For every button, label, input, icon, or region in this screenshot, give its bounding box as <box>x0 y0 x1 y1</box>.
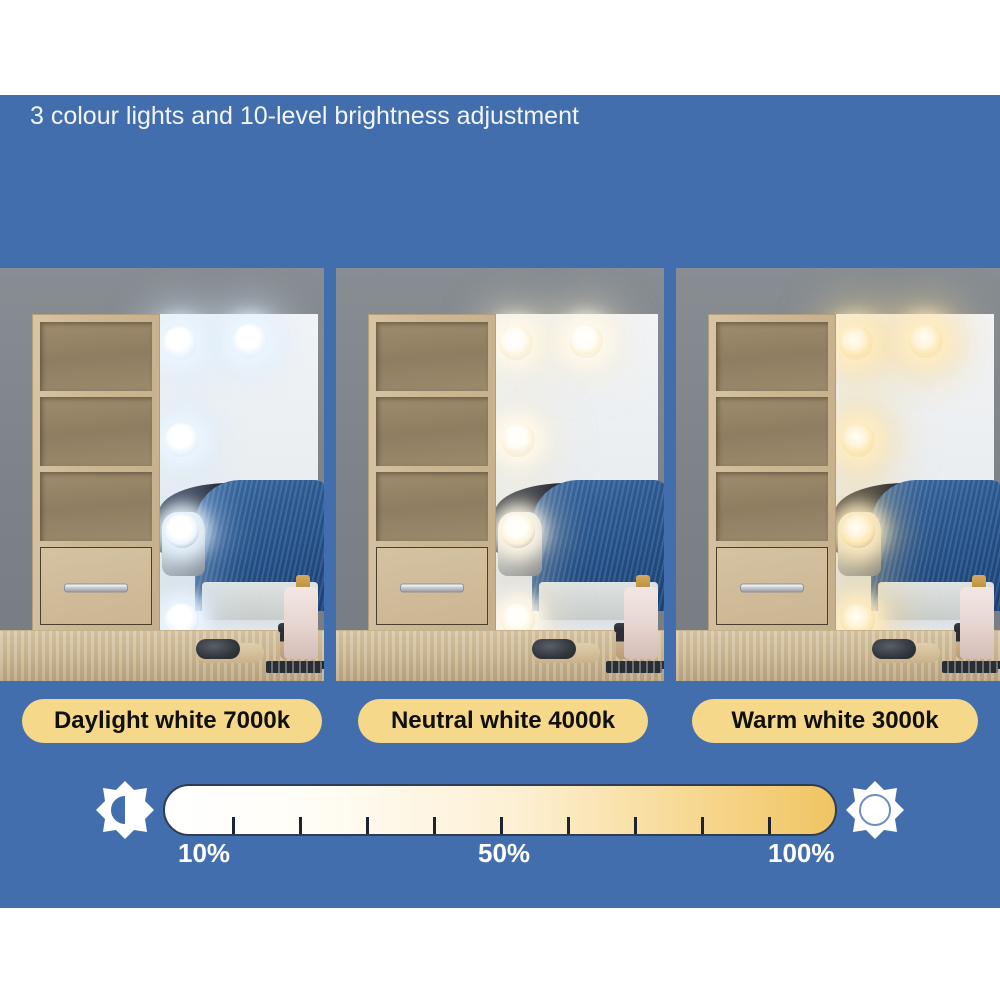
panel-neutral <box>336 268 664 681</box>
mirror-bulb <box>839 326 873 360</box>
cabinet-shelf <box>376 397 488 466</box>
tick <box>433 817 436 834</box>
mirror-bulb <box>163 326 197 360</box>
brightness-high-icon <box>845 780 905 840</box>
drawer-handle <box>400 583 464 592</box>
pill-warm-white: Warm white 3000k <box>692 699 978 743</box>
cabinet-drawer <box>716 547 828 625</box>
vanity-mirror <box>152 314 318 633</box>
mirror-bulb <box>499 326 533 360</box>
page-subtitle: 3 colour lights and 10-level brightness … <box>30 104 968 129</box>
tick <box>768 817 771 834</box>
mirror-bulb <box>909 324 943 358</box>
brightness-label-mid: 50% <box>478 838 530 869</box>
brightness-slider-row <box>0 778 1000 842</box>
cabinet-drawer <box>376 547 488 625</box>
vanity-cabinet <box>32 314 160 633</box>
vanity-mirror <box>488 314 658 633</box>
mirror-bulb <box>841 423 875 457</box>
tick <box>232 817 235 834</box>
cabinet-shelf <box>376 472 488 541</box>
tick <box>567 817 570 834</box>
tick <box>500 817 503 834</box>
heading-block: Customizable lighting 3 colour lights an… <box>28 30 968 129</box>
colour-temperature-labels: Daylight white 7000k Neutral white 4000k… <box>0 699 1000 743</box>
cabinet-shelf <box>716 397 828 466</box>
drawer-handle <box>64 583 128 592</box>
makeup-palette <box>606 661 662 673</box>
makeup-palette <box>942 661 998 673</box>
cabinet-shelf <box>40 397 152 466</box>
tick <box>634 817 637 834</box>
mirror-bulb <box>841 514 875 548</box>
mirror-bulb <box>165 423 199 457</box>
brightness-label-max: 100% <box>768 838 835 869</box>
cabinet-shelf <box>376 322 488 391</box>
vanity-desktop <box>0 630 324 681</box>
cabinet-shelf <box>40 322 152 391</box>
cosmetic-bottle <box>960 587 994 659</box>
panel-warm <box>676 268 1000 681</box>
pill-neutral-white: Neutral white 4000k <box>358 699 648 743</box>
drawer-handle <box>740 583 804 592</box>
brightness-low-icon <box>95 780 155 840</box>
cabinet-shelf <box>716 472 828 541</box>
vanity-cabinet <box>708 314 836 633</box>
cabinet-shelf <box>40 472 152 541</box>
hairbrush-icon <box>532 639 576 659</box>
hairbrush-icon <box>872 639 916 659</box>
cabinet-shelf <box>716 322 828 391</box>
vanity-mirror <box>828 314 994 633</box>
mirror-bulb <box>501 514 535 548</box>
brightness-scale-labels: 10% 50% 100% <box>0 838 1000 872</box>
product-infographic: Customizable lighting 3 colour lights an… <box>0 0 1000 1000</box>
mirror-bulb <box>569 324 603 358</box>
hairbrush-icon <box>196 639 240 659</box>
cabinet-drawer <box>40 547 152 625</box>
mirror-bulb <box>233 324 267 358</box>
tick <box>299 817 302 834</box>
tick <box>366 817 369 834</box>
brightness-ticks <box>165 817 835 834</box>
cosmetic-bottle <box>624 587 658 659</box>
vanity-desktop <box>676 630 1000 681</box>
pill-daylight-white: Daylight white 7000k <box>22 699 322 743</box>
vanity-cabinet <box>368 314 496 633</box>
page-title: Customizable lighting <box>28 30 968 82</box>
makeup-palette <box>266 661 322 673</box>
brightness-label-min: 10% <box>178 838 230 869</box>
brightness-track[interactable] <box>163 784 837 836</box>
mirror-bulb <box>501 423 535 457</box>
photo-strip <box>0 268 1000 681</box>
tick <box>701 817 704 834</box>
cosmetic-bottle <box>284 587 318 659</box>
mirror-bulb <box>165 514 199 548</box>
panel-daylight <box>0 268 324 681</box>
vanity-desktop <box>336 630 664 681</box>
